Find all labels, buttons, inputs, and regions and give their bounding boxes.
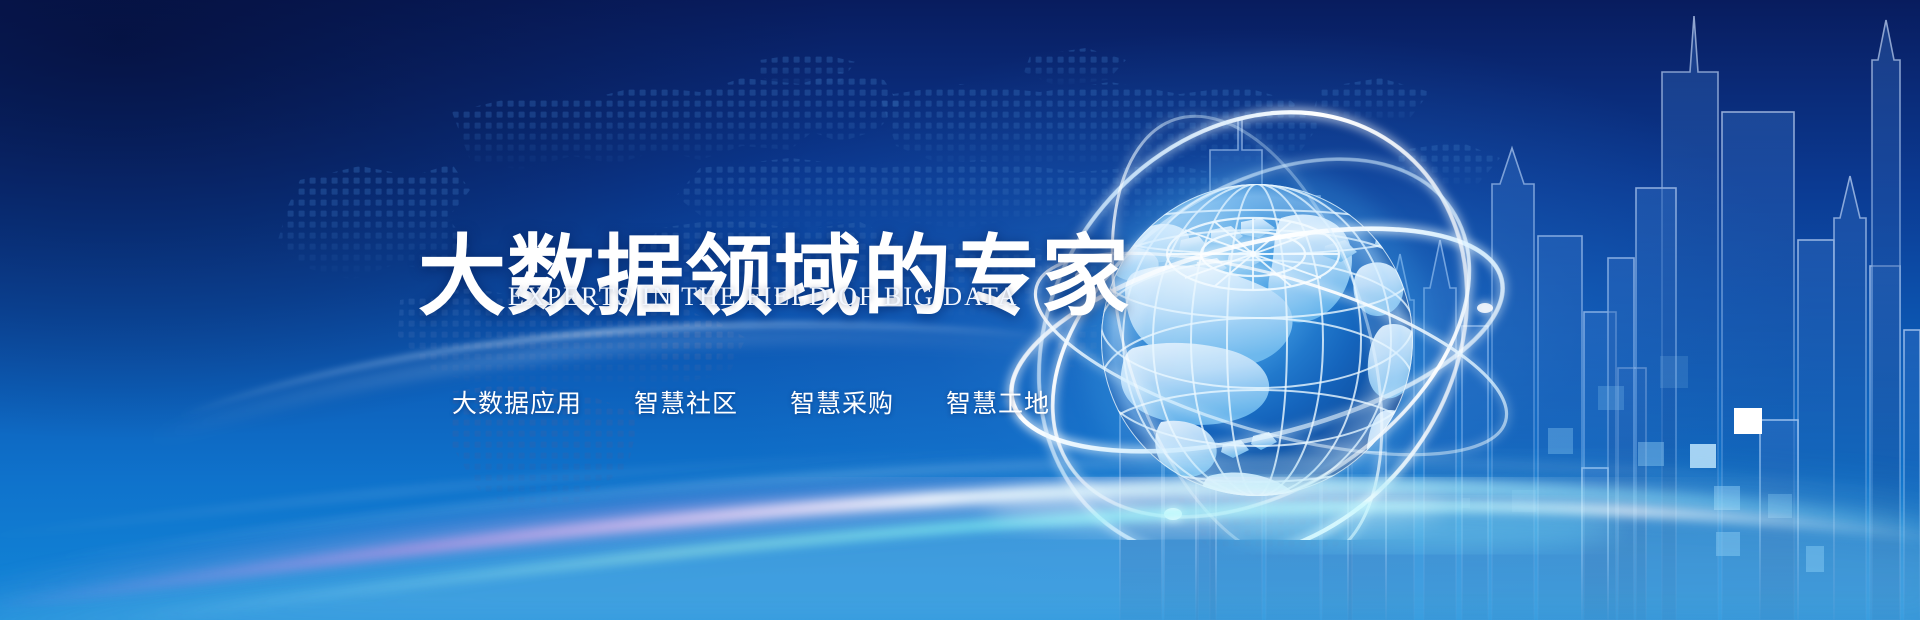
keyword-item-smart-procurement[interactable]: 智慧采购 [790,384,894,420]
square-decor [1638,442,1664,466]
keyword-item-smart-community[interactable]: 智慧社区 [634,384,738,420]
square-decor [1660,356,1688,388]
page-subtitle: EXPERTS IN THE FIELD OF BIG DATA [508,282,1019,312]
square-decor [1714,486,1740,510]
square-decor [1548,428,1573,454]
square-decor [1768,494,1792,518]
keyword-list: 大数据应用 智慧社区 智慧采购 智慧工地 [452,384,1050,420]
square-decor-bright [1690,444,1716,468]
square-decor-white [1734,408,1762,434]
square-decor [1716,532,1740,556]
big-data-banner: 大数据领域的专家 EXPERTS IN THE FIELD OF BIG DAT… [0,0,1920,620]
square-decor [1806,546,1824,572]
keyword-item-big-data-application[interactable]: 大数据应用 [452,384,582,420]
square-decor [1598,386,1624,410]
keyword-item-smart-construction[interactable]: 智慧工地 [946,384,1050,420]
banner-copy: 大数据领域的专家 EXPERTS IN THE FIELD OF BIG DAT… [0,0,1100,620]
